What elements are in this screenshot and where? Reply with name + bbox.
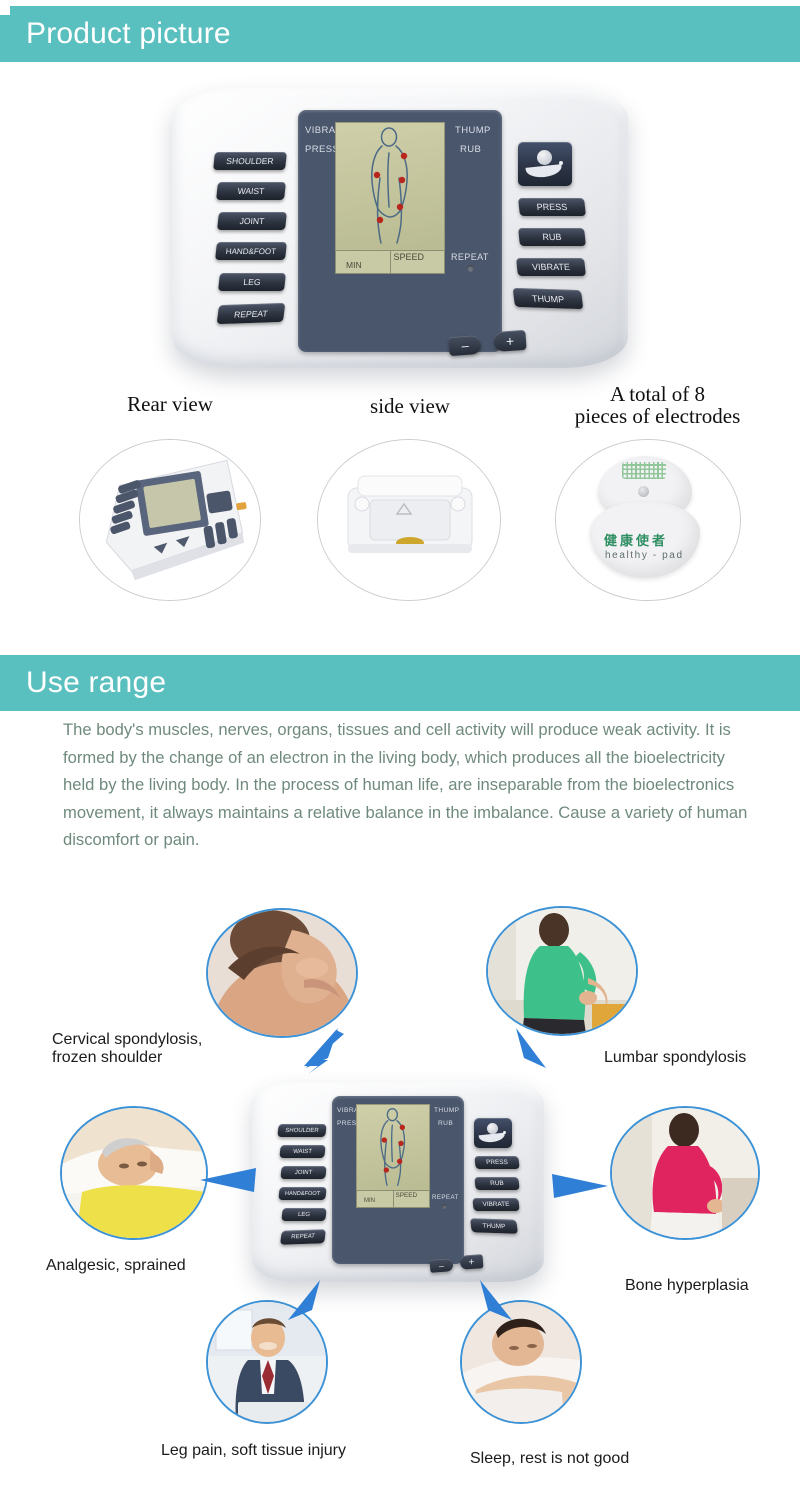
device-button-waist-2[interactable]: WAIST	[279, 1145, 325, 1158]
device-button-joint[interactable]: JOINT	[217, 212, 287, 230]
lcd-min-label: MIN	[346, 260, 362, 270]
lcd-readout-bar: MIN SPEED	[335, 250, 445, 274]
caption-rear-view: Rear view	[80, 393, 260, 415]
power-swoosh-icon-2	[479, 1133, 506, 1144]
pad-snap-stud	[638, 486, 649, 497]
device-button-leg-2[interactable]: LEG	[281, 1208, 326, 1221]
caption-electrodes: A total of 8 pieces of electrodes	[545, 383, 770, 427]
use-case-label-lumbar: Lumbar spondylosis	[604, 1049, 800, 1067]
lcd-readout-bar-2: MIN SPEED	[356, 1190, 430, 1208]
section-header-use-range: Use range	[0, 655, 800, 711]
power-swoosh-icon	[526, 164, 563, 179]
arrow-sleep-to-device	[466, 1278, 522, 1324]
device-button-repeat-2[interactable]: REPEAT	[280, 1229, 326, 1245]
main-device-front-view: VIBRATE PRESS THUMP RUB REPEAT	[172, 88, 628, 368]
device-button-repeat[interactable]: REPEAT	[217, 303, 286, 324]
arrow-legpain-to-device	[278, 1278, 334, 1324]
device-lcd-screen-secondary	[356, 1104, 430, 1192]
caption-side-view: side view	[320, 395, 500, 417]
lcd-body-figure-icon-2	[357, 1105, 429, 1191]
use-case-photo-cervical	[208, 910, 356, 1036]
arrow-lumbar-to-device	[502, 1026, 562, 1076]
electrode-pad-thumbnail: 健康使者 healthy - pad	[556, 440, 740, 600]
screen-label-rub-2: RUB	[438, 1120, 453, 1127]
neck-pain-photo	[208, 910, 356, 1036]
power-dot-icon-2	[503, 1131, 506, 1134]
screen-label-thump: THUMP	[455, 125, 491, 136]
lcd-body-figure-icon	[336, 123, 444, 251]
lcd-speed-segment: SPEED	[391, 251, 445, 273]
device-button-leg[interactable]: LEG	[218, 273, 286, 291]
screen-label-repeat-2: REPEAT	[432, 1194, 459, 1201]
device-button-joint-2[interactable]: JOINT	[280, 1166, 326, 1179]
device-button-hand-and-foot-2[interactable]: HAND&FOOT	[278, 1187, 326, 1200]
device-button-shoulder[interactable]: SHOULDER	[213, 152, 287, 170]
use-case-label-sleep: Sleep, rest is not good	[470, 1450, 720, 1468]
device-button-thump-2[interactable]: THUMP	[470, 1218, 518, 1234]
side-view-photo	[318, 440, 500, 600]
device-button-hand-and-foot[interactable]: HAND&FOOT	[215, 242, 287, 260]
device-button-rub[interactable]: RUB	[518, 228, 586, 246]
pad-chinese-text: 健康使者	[604, 530, 668, 549]
arrow-bone-to-device	[548, 1168, 618, 1202]
lcd-speed-label-2: SPEED	[396, 1192, 418, 1199]
repeat-indicator-led-2	[442, 1204, 447, 1209]
device-button-plus[interactable]: +	[493, 330, 526, 352]
rear-view-thumbnail	[80, 440, 260, 600]
use-case-label-bone: Bone hyperplasia	[625, 1277, 800, 1295]
device-front-view-secondary: VIBRATE PRESS THUMP RUB REPEAT	[252, 1082, 544, 1282]
device-button-rub-2[interactable]: RUB	[474, 1177, 519, 1190]
product-picture-title: Product picture	[0, 17, 231, 51]
device-button-minus-2[interactable]: –	[430, 1258, 454, 1273]
device-button-vibrate-2[interactable]: VIBRATE	[472, 1198, 519, 1211]
device-button-plus-2[interactable]: +	[460, 1254, 484, 1270]
arrow-analgesic-to-device	[190, 1162, 258, 1196]
device-button-vibrate[interactable]: VIBRATE	[516, 258, 586, 276]
banner-corner-notch	[0, 6, 10, 15]
lcd-min-segment: MIN	[336, 251, 391, 273]
device-button-press-2[interactable]: PRESS	[474, 1156, 519, 1169]
device-lcd-screen	[335, 122, 445, 252]
pad-english-text: healthy - pad	[605, 550, 684, 561]
screen-label-repeat: REPEAT	[451, 252, 489, 262]
use-range-title: Use range	[0, 666, 166, 700]
screen-label-rub: RUB	[460, 144, 481, 155]
section-header-product-picture: Product picture	[0, 6, 800, 62]
resting-man-photo	[62, 1108, 206, 1238]
lcd-speed-label: SPEED	[394, 252, 425, 262]
lcd-min-label-2: MIN	[364, 1198, 375, 1204]
side-view-thumbnail	[318, 440, 500, 600]
lcd-speed-segment-2: SPEED	[394, 1191, 430, 1207]
moon-icon	[537, 150, 552, 165]
device-button-waist[interactable]: WAIST	[216, 182, 286, 200]
device-button-thump[interactable]: THUMP	[513, 288, 584, 309]
device-power-button-2[interactable]	[474, 1118, 512, 1148]
use-range-paragraph: The body's muscles, nerves, organs, tiss…	[63, 716, 753, 854]
rear-view-illustration	[80, 440, 260, 600]
device-power-button[interactable]	[518, 142, 572, 186]
power-dot-icon	[559, 161, 563, 165]
lcd-min-segment-2: MIN	[357, 1191, 394, 1207]
woman-back-photo	[612, 1108, 758, 1238]
screen-label-thump-2: THUMP	[434, 1107, 459, 1114]
use-case-label-cervical: Cervical spondylosis, frozen shoulder	[52, 1031, 322, 1067]
device-button-shoulder-2[interactable]: SHOULDER	[277, 1124, 326, 1137]
product-listing-page: Product picture VIBRATE PRESS THUMP RUB …	[0, 0, 800, 1497]
use-case-label-analgesic: Analgesic, sprained	[46, 1257, 266, 1275]
repeat-indicator-led	[467, 265, 474, 272]
pad-conductive-grid	[622, 462, 666, 479]
moon-icon-2	[487, 1123, 498, 1134]
rear-view-photo	[80, 440, 260, 600]
use-case-photo-lumbar	[488, 908, 636, 1034]
use-case-label-legpain: Leg pain, soft tissue injury	[161, 1442, 421, 1460]
device-button-minus[interactable]: –	[448, 335, 481, 356]
back-pain-photo	[488, 908, 636, 1034]
device-button-press[interactable]: PRESS	[518, 198, 586, 216]
use-case-photo-analgesic	[62, 1108, 206, 1238]
use-case-photo-bone	[612, 1108, 758, 1238]
side-view-illustration	[318, 440, 500, 600]
